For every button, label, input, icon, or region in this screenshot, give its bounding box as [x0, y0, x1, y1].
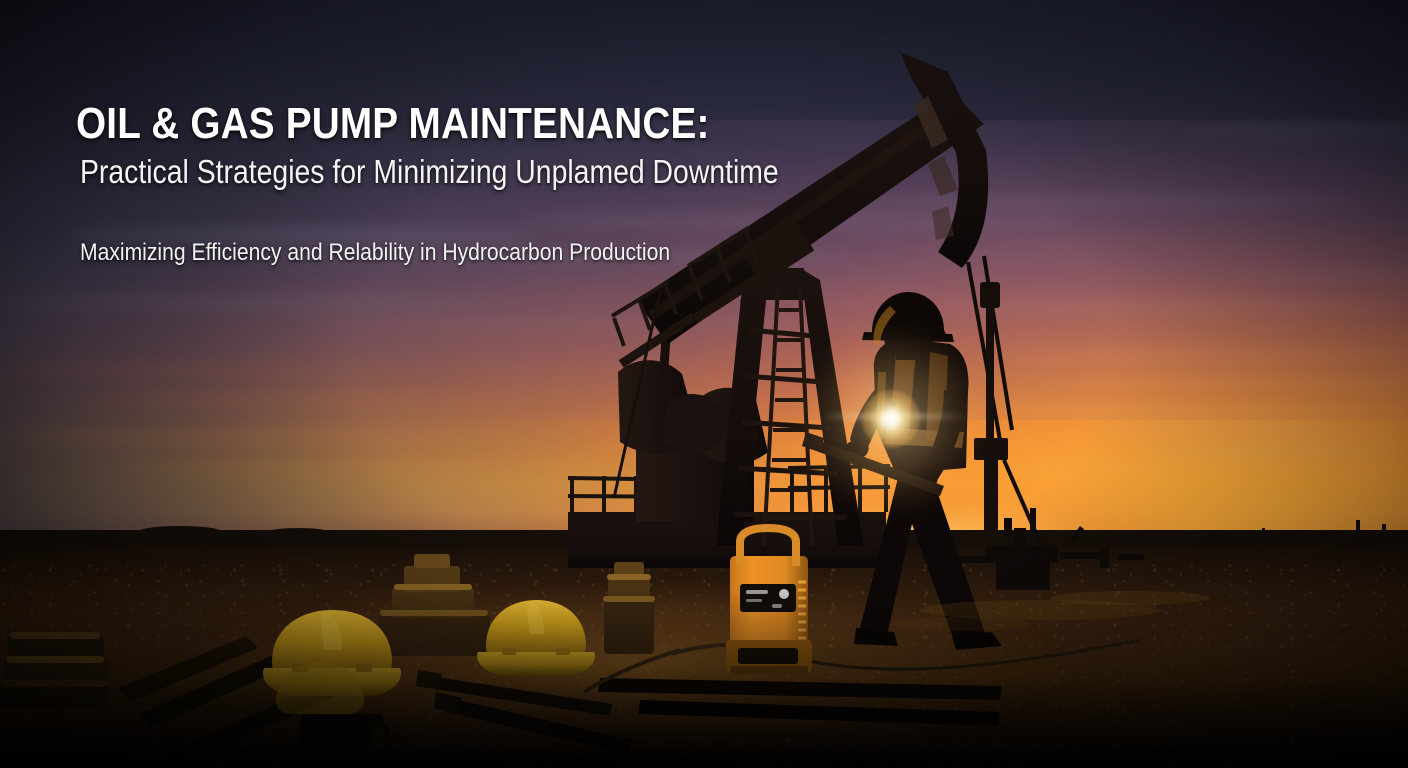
pipe-long-1 [118, 636, 258, 702]
wrench-3 [598, 678, 1002, 700]
polished-rod [986, 304, 994, 438]
pipe-stack [0, 632, 108, 708]
valve-fittings-right [603, 562, 655, 654]
hero-banner: OIL & GAS PUMP MAINTENANCE: Practical St… [0, 0, 1408, 768]
page-title: OIL & GAS PUMP MAINTENANCE: [76, 100, 745, 148]
sun-flare-core [862, 390, 920, 448]
stuffing-box [974, 438, 1008, 460]
valve-fittings [378, 554, 490, 656]
hardhat-left [477, 600, 595, 676]
generator-panel [740, 584, 796, 612]
page-tagline: Maximizing Efficiency and Relability in … [80, 239, 745, 267]
pumpjack-ladder [764, 286, 812, 546]
hardhat-left-brim [477, 652, 595, 676]
tool-block [300, 714, 391, 760]
ground-reflections [890, 591, 1210, 631]
wrench-4 [638, 700, 1000, 726]
worker-boot-left [854, 628, 898, 646]
overlay-text-block: OIL & GAS PUMP MAINTENANCE: Practical St… [76, 100, 836, 267]
page-subtitle: Practical Strategies for Minimizing Unpl… [80, 153, 730, 191]
